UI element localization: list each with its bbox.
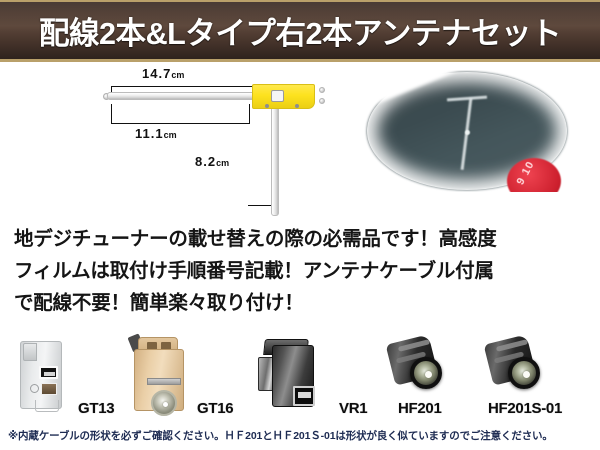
footer-caution-note: ※内蔵ケーブルの形状を必ずご確認ください。ＨＦ201とＨＦ201Ｓ-01は形状が… (0, 424, 600, 450)
photo-antenna-node-icon (465, 130, 470, 135)
antenna-horizontal-arm (107, 92, 267, 100)
description-line: で配線不要！簡単楽々取り付け！ (14, 287, 586, 319)
description-block: 地デジチューナーの載せ替えの際の必需品です！高感度 フィルムは取付け手順番号記載… (0, 219, 600, 331)
product-visuals-section: 14.7cm 11.1cm 8.2cm 9 10 ※画像は一部例になります (0, 62, 600, 217)
dimension-label-element-height: 8.2cm (195, 154, 229, 169)
gt16-coax-center (151, 390, 177, 416)
description-line: 地デジチューナーの載せ替えの際の必需品です！高感度 (14, 223, 586, 255)
antenna-pin-icon (319, 98, 325, 104)
dimension-bracket-element-width (111, 104, 250, 124)
gt13-port-lower (41, 383, 57, 395)
gt13-connector-icon (12, 337, 70, 411)
dimension-bracket-element-height (248, 124, 272, 206)
vr1-connector-icon (258, 337, 326, 413)
gt13-body (20, 341, 62, 409)
gt16-body (134, 349, 184, 411)
hf201s-01-connector-icon (486, 337, 548, 409)
gt13-foot (35, 400, 59, 412)
gt13-port-upper (39, 366, 58, 379)
gt16-connector-icon (128, 335, 190, 413)
connector-label-gt13: GT13 (78, 400, 114, 417)
vr1-body (272, 345, 314, 407)
gt13-round-mark (30, 384, 39, 393)
connector-label-hf201: HF201 (398, 400, 442, 417)
antenna-vertical-arm (271, 102, 279, 216)
connector-dot-icon (265, 104, 269, 108)
antenna-film-connector-pad (252, 84, 315, 109)
header-banner: 配線2本&Lタイプ右2本アンテナセット (0, 0, 600, 62)
dimension-label-element-width: 11.1cm (135, 126, 177, 141)
connector-label-hf201s-01: HF201S-01 (488, 400, 562, 417)
connector-chip-icon (271, 90, 284, 102)
hf201s-01-coax-ring (508, 357, 540, 389)
connector-dot-icon (295, 104, 299, 108)
antenna-dimension-diagram: 14.7cm 11.1cm 8.2cm (95, 66, 325, 216)
vr1-port (293, 386, 315, 406)
page-title: 配線2本&Lタイプ右2本アンテナセット (39, 8, 561, 53)
dimension-label-overall-width: 14.7cm (142, 66, 184, 81)
hf201-connector-icon (388, 337, 450, 409)
gt13-latch-tab (23, 343, 37, 361)
description-line: フィルムは取付け手順番号記載！アンテナケーブル付属 (14, 255, 586, 287)
hf201-coax-ring (410, 357, 442, 389)
connector-types-strip: GT13 GT16 VR1 (0, 333, 600, 421)
installed-antenna-photo: 9 10 ※画像は一部例になります (355, 70, 580, 192)
antenna-pin-icon (319, 87, 325, 93)
gt16-label-stripe (147, 378, 181, 385)
connector-label-gt16: GT16 (197, 400, 233, 417)
connector-label-vr1: VR1 (339, 400, 367, 417)
